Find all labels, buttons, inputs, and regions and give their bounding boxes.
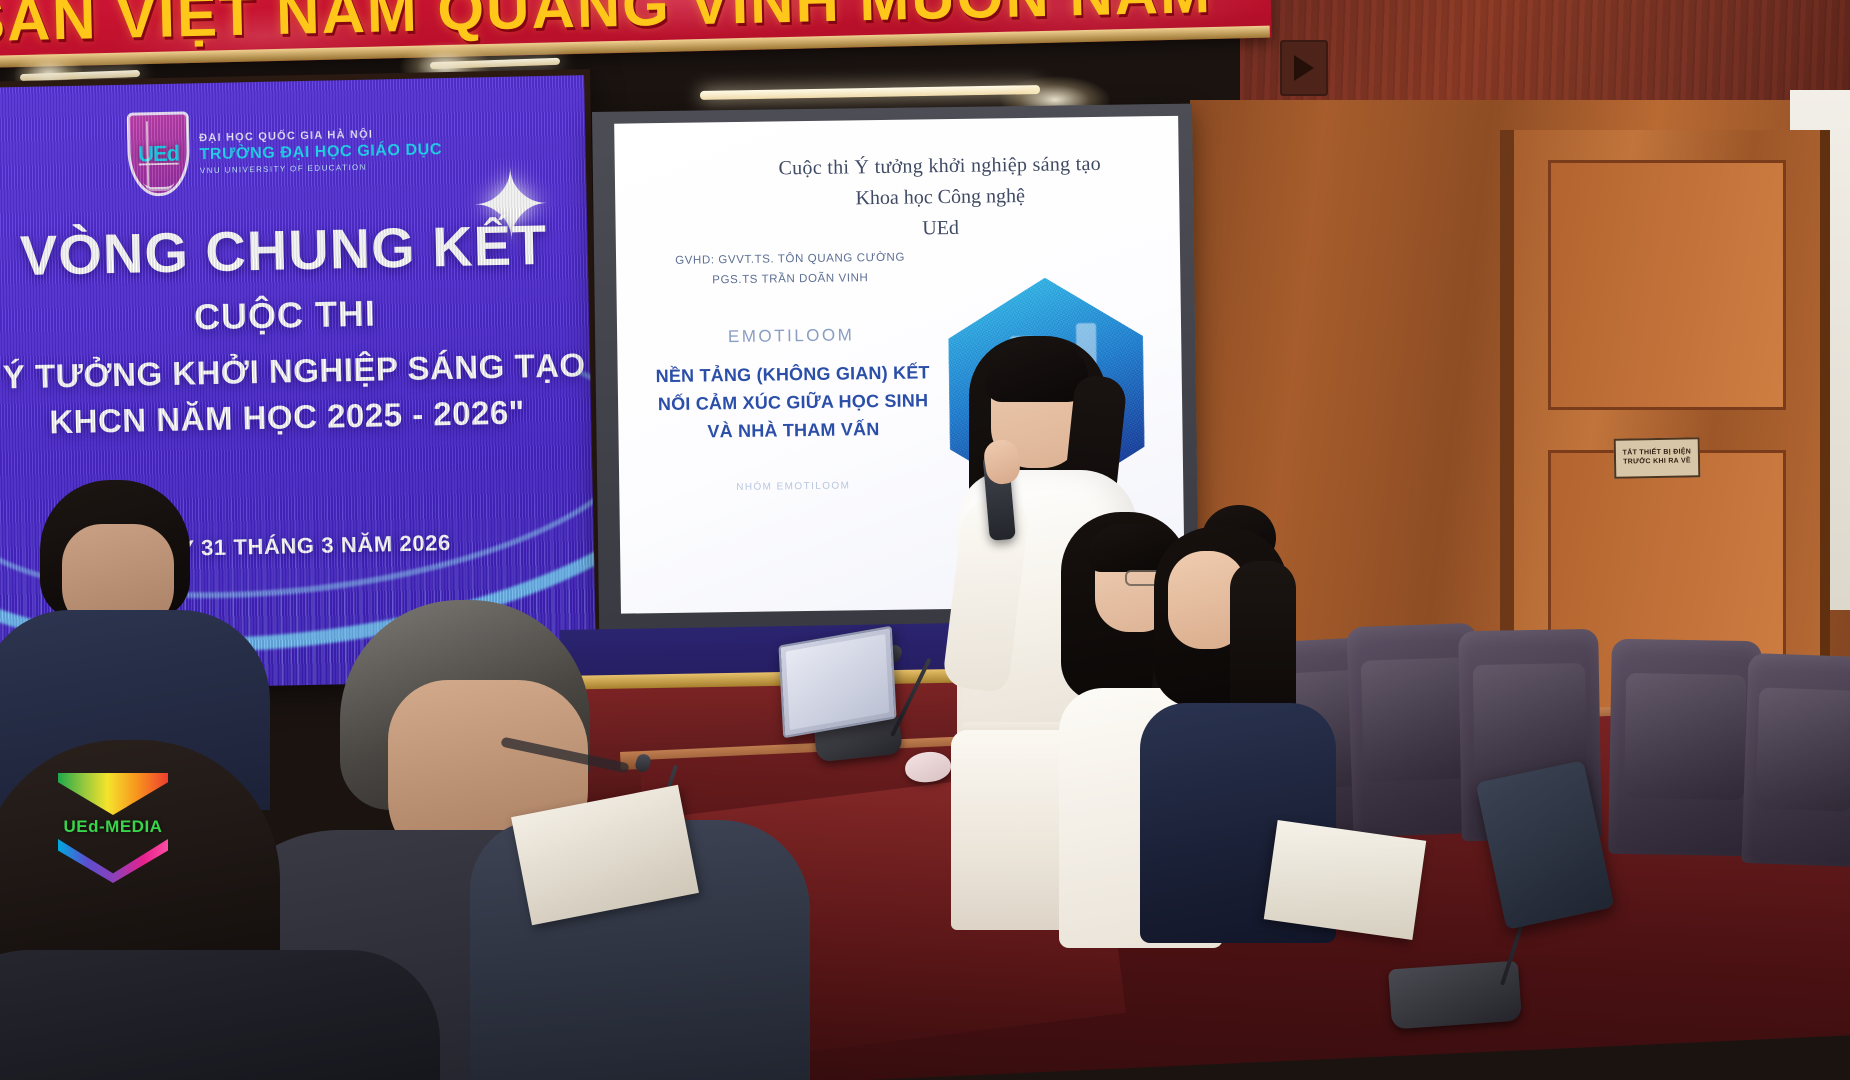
watermark-label: UEd-MEDIA [64, 817, 163, 837]
watermark-chevron-bottom-icon [58, 839, 168, 883]
slide-project-name: EMOTILOOM [641, 324, 941, 348]
laptop[interactable] [778, 626, 896, 739]
speaker-triangle-icon [1294, 55, 1314, 81]
logo-text-block: ĐẠI HỌC QUỐC GIA HÀ NỘI TRƯỜNG ĐẠI HỌC G… [199, 127, 442, 175]
conference-microphone-base[interactable] [1388, 961, 1522, 1030]
conference-chair[interactable] [1608, 639, 1762, 857]
slide-header-line-3: UEd [726, 214, 1156, 243]
slide-header-line-2: Khoa học Công nghệ [725, 183, 1155, 212]
audience-body [0, 950, 440, 1080]
shield-wordmark: UEd [138, 141, 180, 168]
led-title-block: VÒNG CHUNG KẾT CUỘC THI "Ý TƯỞNG KHỞI NG… [0, 215, 591, 442]
logo-line-2: TRƯỜNG ĐẠI HỌC GIÁO DỤC [199, 141, 442, 164]
ued-shield-icon: UEd [127, 111, 191, 196]
advisor-line-2: PGS.TS TRẦN DOÃN VINH [640, 267, 940, 291]
led-title-line-2: CUỘC THI [0, 288, 589, 343]
led-university-logo: UEd ĐẠI HỌC QUỐC GIA HÀ NỘI TRƯỜNG ĐẠI H… [127, 100, 459, 203]
slide-subtitle: NỀN TẢNG (KHÔNG GIAN) KẾT NỐI CẢM XÚC GI… [628, 359, 959, 447]
slide-subtitle-line-1: NỀN TẢNG (KHÔNG GIAN) KẾT [628, 359, 958, 391]
audience-member-back [0, 470, 240, 770]
sparkle-icon: ✦ [471, 206, 551, 208]
led-title-line-1: VÒNG CHUNG KẾT [0, 215, 588, 287]
slide-advisors: GVHD: GVVT.TS. TÔN QUANG CƯỜNG PGS.TS TR… [640, 247, 941, 291]
door-sign-line2: TRƯỚC KHI RA VỀ [1623, 457, 1691, 467]
slide-footer: NHÓM EMOTILOOM [643, 479, 943, 494]
door-panel-upper [1548, 160, 1786, 410]
ceiling-light-strip-3 [700, 85, 1040, 100]
conference-room-photo: TẮT THIẾT BỊ ĐIỆN TRƯỚC KHI RA VỀ SẢN VI… [0, 0, 1850, 1080]
wall-speaker-icon [1280, 40, 1328, 96]
ued-media-watermark: UEd-MEDIA [58, 770, 168, 886]
conference-chair[interactable] [1741, 653, 1850, 867]
door-sign: TẮT THIẾT BỊ ĐIỆN TRƯỚC KHI RA VỀ [1614, 437, 1701, 478]
slide-header-line-1: Cuộc thi Ý tưởng khởi nghiệp sáng tạo [725, 152, 1155, 181]
slide-subtitle-line-3: VÀ NHÀ THAM VẤN [628, 415, 958, 447]
slide-subtitle-line-2: NỐI CẢM XÚC GIỮA HỌC SINH [628, 387, 958, 419]
watermark-chevron-top-icon [58, 773, 168, 815]
led-title-line-3: "Ý TƯỞNG KHỞI NGHIỆP SÁNG TẠO [0, 346, 590, 397]
slide-header: Cuộc thi Ý tưởng khởi nghiệp sáng tạo Kh… [725, 152, 1156, 243]
documents[interactable] [1264, 820, 1426, 940]
